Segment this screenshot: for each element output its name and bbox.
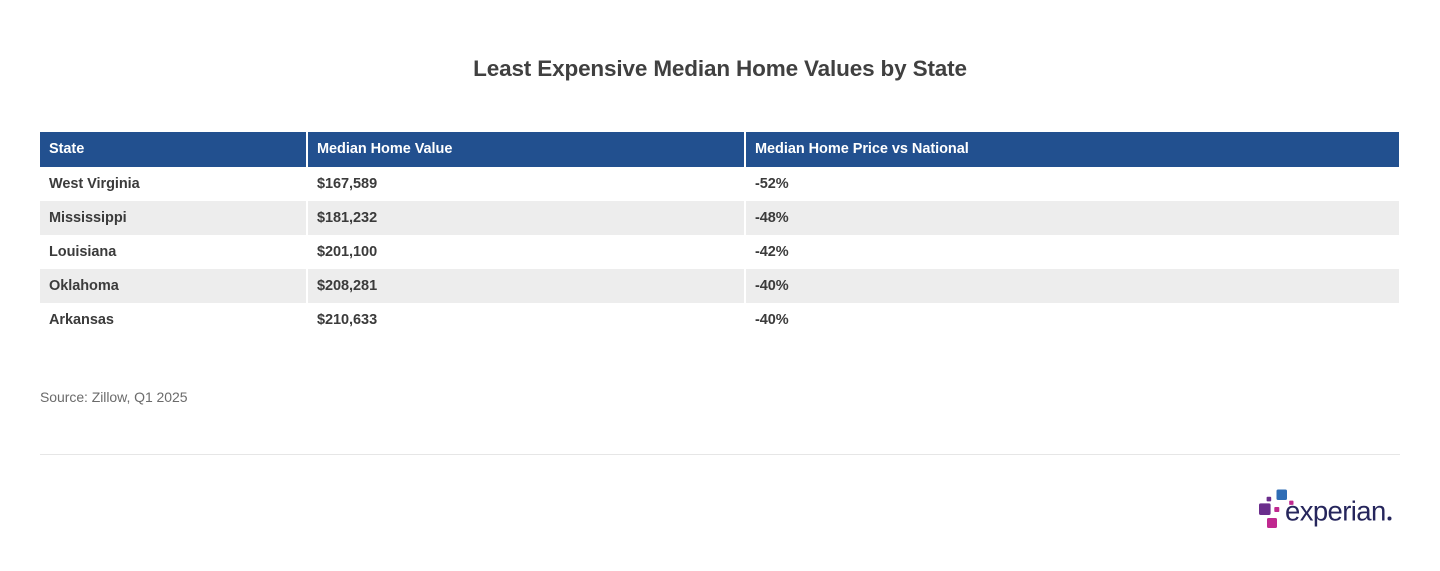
page-title: Least Expensive Median Home Values by St… <box>0 56 1440 82</box>
svg-text:experian: experian <box>1285 496 1386 527</box>
footer-divider <box>40 454 1400 455</box>
column-header-median-home-value: Median Home Value <box>307 132 745 167</box>
source-note: Source: Zillow, Q1 2025 <box>40 389 187 405</box>
cell-median-home-value: $210,633 <box>307 303 745 337</box>
table-body: West Virginia $167,589 -52% Mississippi … <box>40 167 1399 337</box>
cell-median-home-value: $181,232 <box>307 201 745 235</box>
cell-median-home-value: $167,589 <box>307 167 745 201</box>
experian-logo-svg: experian <box>1258 489 1394 531</box>
table-row: Arkansas $210,633 -40% <box>40 303 1399 337</box>
cell-state: Oklahoma <box>40 269 307 303</box>
cell-state: Arkansas <box>40 303 307 337</box>
column-header-state: State <box>40 132 307 167</box>
table-row: Louisiana $201,100 -42% <box>40 235 1399 269</box>
cell-state: West Virginia <box>40 167 307 201</box>
cell-vs-national: -40% <box>745 269 1399 303</box>
experian-logo: experian <box>1258 489 1394 531</box>
table-row: Mississippi $181,232 -48% <box>40 201 1399 235</box>
table-row: Oklahoma $208,281 -40% <box>40 269 1399 303</box>
cell-vs-national: -52% <box>745 167 1399 201</box>
data-table-container: State Median Home Value Median Home Pric… <box>40 132 1399 337</box>
cell-median-home-value: $208,281 <box>307 269 745 303</box>
cell-state: Mississippi <box>40 201 307 235</box>
cell-vs-national: -42% <box>745 235 1399 269</box>
table-header: State Median Home Value Median Home Pric… <box>40 132 1399 167</box>
table-row: West Virginia $167,589 -52% <box>40 167 1399 201</box>
cell-median-home-value: $201,100 <box>307 235 745 269</box>
cell-vs-national: -40% <box>745 303 1399 337</box>
home-values-table: State Median Home Value Median Home Pric… <box>40 132 1399 337</box>
experian-wordmark: experian <box>1285 496 1392 527</box>
table-header-row: State Median Home Value Median Home Pric… <box>40 132 1399 167</box>
cell-state: Louisiana <box>40 235 307 269</box>
infographic-page: Least Expensive Median Home Values by St… <box>0 0 1440 571</box>
cell-vs-national: -48% <box>745 201 1399 235</box>
column-header-median-home-price-vs-national: Median Home Price vs National <box>745 132 1399 167</box>
